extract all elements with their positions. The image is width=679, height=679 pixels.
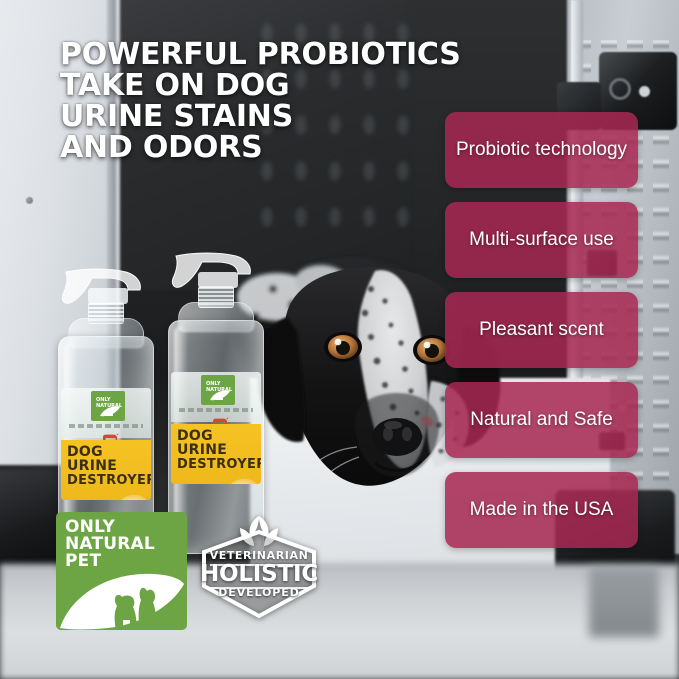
label-line-3: DESTROYER bbox=[67, 474, 145, 487]
badge-label: Probiotic technology bbox=[456, 139, 627, 161]
badge-label: Made in the USA bbox=[470, 499, 614, 521]
product-marketing-image: ONLY NATURAL DOG URINE DESTR bbox=[0, 0, 679, 679]
label-line-1: DOG bbox=[177, 429, 255, 443]
badge-label: Natural and Safe bbox=[470, 409, 613, 431]
label-splash-graphic-2 bbox=[223, 475, 261, 484]
feature-badge-multi-surface-use: Multi-surface use bbox=[445, 202, 638, 278]
label-dog-icon-1 bbox=[101, 429, 119, 438]
feature-badge-made-in-the-usa: Made in the USA bbox=[445, 472, 638, 548]
brand-logo: ONLY NATURAL PET bbox=[56, 512, 187, 630]
headline-line-1: POWERFUL PROBIOTICS bbox=[60, 40, 490, 71]
label-tagline-1 bbox=[69, 424, 143, 428]
crate-screw-left bbox=[26, 197, 33, 204]
bottle-label-2: ONLY NATURAL DOG URINE DESTR bbox=[171, 372, 261, 484]
label-product-name-2: DOG URINE DESTROYER bbox=[171, 424, 261, 484]
headline-line-4: AND ODORS bbox=[60, 133, 490, 164]
feature-badge-pleasant-scent: Pleasant scent bbox=[445, 292, 638, 368]
headline-line-2: TAKE ON DOG bbox=[60, 71, 490, 102]
label-dog-icon-2 bbox=[211, 413, 229, 422]
veterinarian-holistic-badge: VETERINARIAN HOLISTIC DEVELOPED bbox=[196, 512, 322, 622]
label-product-name-1: DOG URINE DESTROYER bbox=[61, 440, 151, 500]
label-brand-logo-1: ONLY NATURAL bbox=[91, 391, 125, 421]
feature-badge-probiotic-technology: Probiotic technology bbox=[445, 112, 638, 188]
headline: POWERFUL PROBIOTICS TAKE ON DOG URINE ST… bbox=[60, 40, 490, 164]
label-line-3: DESTROYER bbox=[177, 458, 255, 471]
badge-label: Multi-surface use bbox=[469, 229, 614, 251]
label-line-1: DOG bbox=[67, 445, 145, 459]
bottle-label-1: ONLY NATURAL DOG URINE DESTR bbox=[61, 388, 151, 500]
label-tagline-2 bbox=[179, 408, 253, 412]
badge-label: Pleasant scent bbox=[479, 319, 604, 341]
spray-bottle-2: ONLY NATURAL DOG URINE DESTR bbox=[162, 254, 270, 554]
feature-badge-natural-and-safe: Natural and Safe bbox=[445, 382, 638, 458]
label-line-2: URINE bbox=[67, 459, 145, 473]
label-brand-logo-2: ONLY NATURAL bbox=[201, 375, 235, 405]
label-line-2: URINE bbox=[177, 443, 255, 457]
floor-background-object bbox=[589, 567, 659, 637]
headline-line-3: URINE STAINS bbox=[60, 102, 490, 133]
brand-logo-artwork bbox=[56, 554, 187, 630]
label-splash-graphic-1 bbox=[113, 491, 151, 500]
feature-badge-list: Probiotic technology Multi-surface use P… bbox=[445, 112, 640, 548]
